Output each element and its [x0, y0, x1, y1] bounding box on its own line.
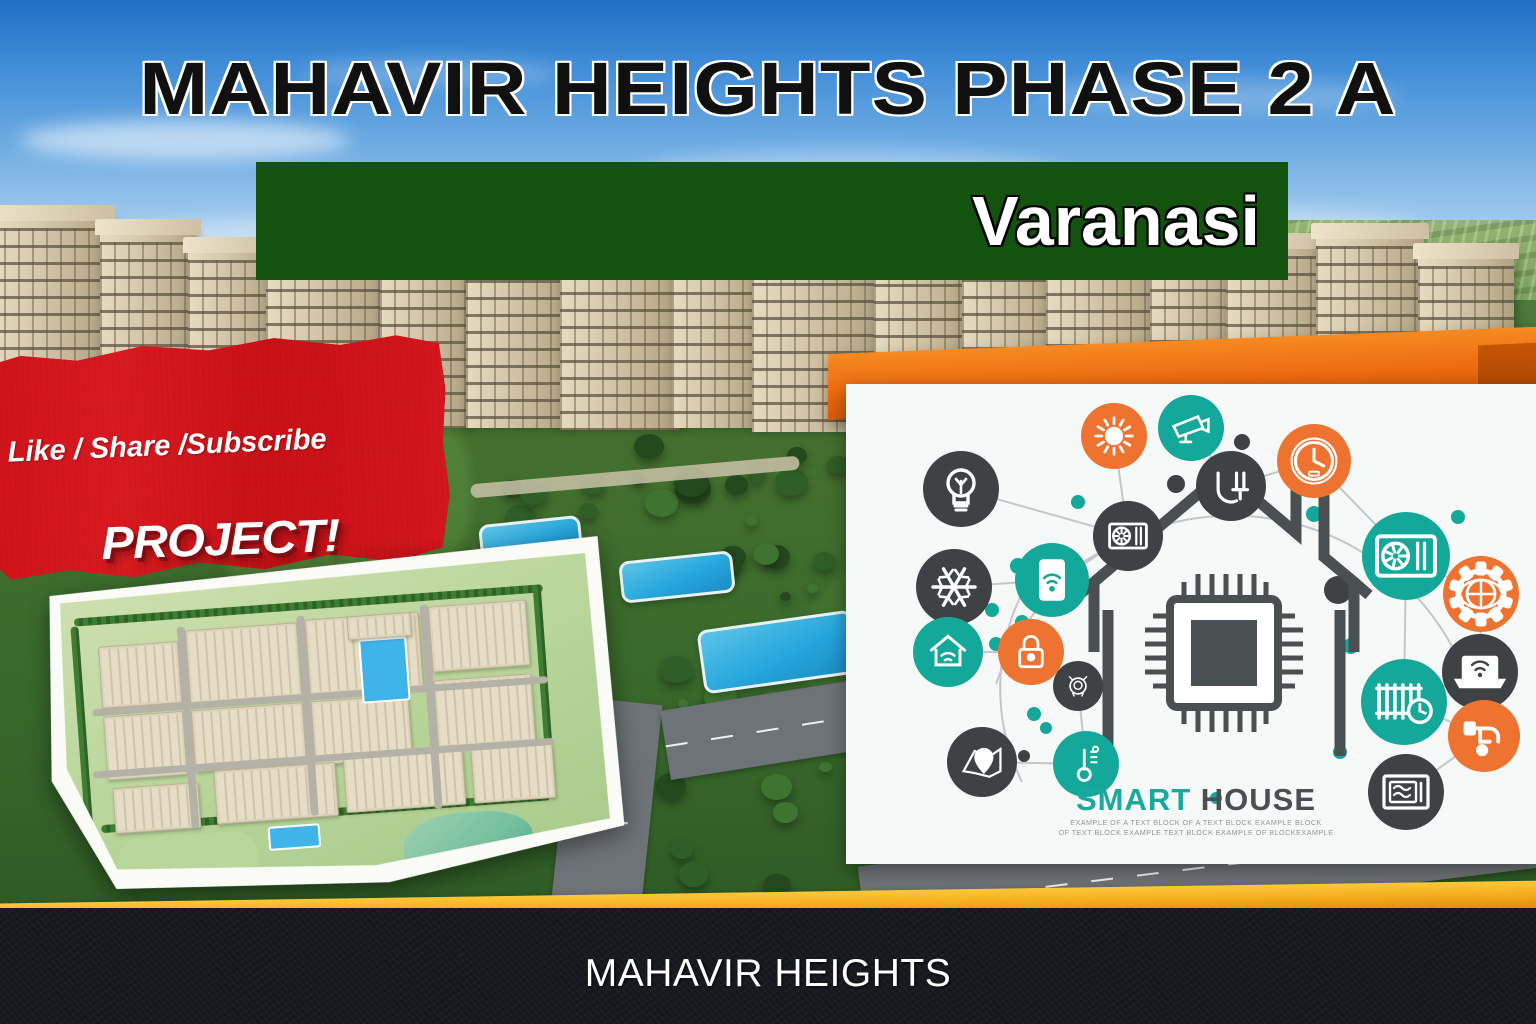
connector-dot — [1451, 510, 1465, 524]
housing-block — [470, 742, 556, 804]
snowflake-icon: Cooling — [916, 549, 992, 625]
tree — [780, 592, 791, 601]
connector-dot — [1040, 722, 1052, 734]
tree — [752, 476, 762, 485]
housing-block — [213, 762, 339, 825]
housing-block — [98, 641, 182, 709]
tree — [746, 516, 757, 526]
footer-bar: MAHAVIR HEIGHTS — [0, 908, 1536, 1024]
site-plan-photo — [37, 536, 628, 907]
light-bulb-icon: Lighting — [923, 451, 999, 527]
smartphone-wifi-icon: Mobile Control — [1015, 543, 1089, 617]
connector-dot — [1027, 707, 1041, 721]
laptop-wifi-icon: Laptop Access — [1442, 634, 1518, 710]
tower-roof — [1413, 243, 1519, 259]
tree — [679, 862, 708, 886]
tower-roof — [95, 219, 201, 235]
tree — [819, 762, 831, 773]
tree — [753, 543, 779, 565]
padlock-icon: Security Lock — [998, 619, 1064, 685]
smart-house-card: LightingSolar / DaylightCCTV CameraPower… — [846, 384, 1536, 864]
tree — [775, 468, 808, 496]
tower-roof — [1311, 223, 1429, 239]
water-tap-icon: Water Supply — [1448, 700, 1520, 772]
radiator-icon: Heating — [1361, 659, 1447, 745]
tree — [725, 475, 748, 494]
city-name: Varanasi — [972, 181, 1260, 261]
brand-secondary: HOUSE — [1201, 782, 1316, 817]
connector-dot — [1167, 475, 1185, 493]
tree — [761, 774, 791, 800]
clubhouse — [346, 612, 412, 641]
power-plug-icon: Power Socket — [1196, 451, 1266, 521]
smart-house-subtitle-line2: OF TEXT BLOCK EXAMPLE TEXT BLOCK EXAMPLE… — [846, 828, 1536, 837]
smart-house-subtitle-line1: EXAMPLE OF A TEXT BLOCK OF A TEXT BLOCK … — [846, 818, 1536, 827]
footer-title: MAHAVIR HEIGHTS — [0, 952, 1536, 996]
sun-icon: Solar / Daylight — [1081, 403, 1147, 469]
housing-block — [185, 622, 302, 704]
smart-home-wifi-icon: Home Network — [913, 617, 983, 687]
tree — [773, 802, 798, 823]
connector-dot — [1018, 750, 1030, 762]
connector-dot — [1071, 495, 1085, 509]
housing-block — [428, 599, 531, 672]
connector-dot — [1234, 434, 1250, 450]
club-pool — [358, 636, 411, 703]
brand-primary: SMART — [1076, 782, 1191, 817]
poster-canvas: MAHAVIR HEIGHTS PHASE 2 A Varanasi Like … — [0, 0, 1536, 1024]
alarm-sensor-icon: Alarm Sensor — [1053, 661, 1103, 711]
microchip-icon — [1145, 574, 1303, 732]
city-band: Varanasi — [256, 162, 1288, 280]
secondary-pool — [268, 823, 322, 851]
security-camera-icon: CCTV Camera — [1158, 395, 1224, 461]
tree — [813, 552, 836, 571]
ventilation-icon: Ventilation — [1093, 501, 1163, 571]
smart-house-brand: SMART HOUSE — [846, 782, 1536, 818]
tree — [660, 656, 693, 684]
wall-clock-icon: Scheduling — [1277, 424, 1351, 498]
air-conditioner-icon: Air Conditioning — [1362, 512, 1450, 600]
globe-gear-icon: Global Settings — [1443, 556, 1519, 632]
page-title: MAHAVIR HEIGHTS PHASE 2 A — [0, 46, 1536, 131]
